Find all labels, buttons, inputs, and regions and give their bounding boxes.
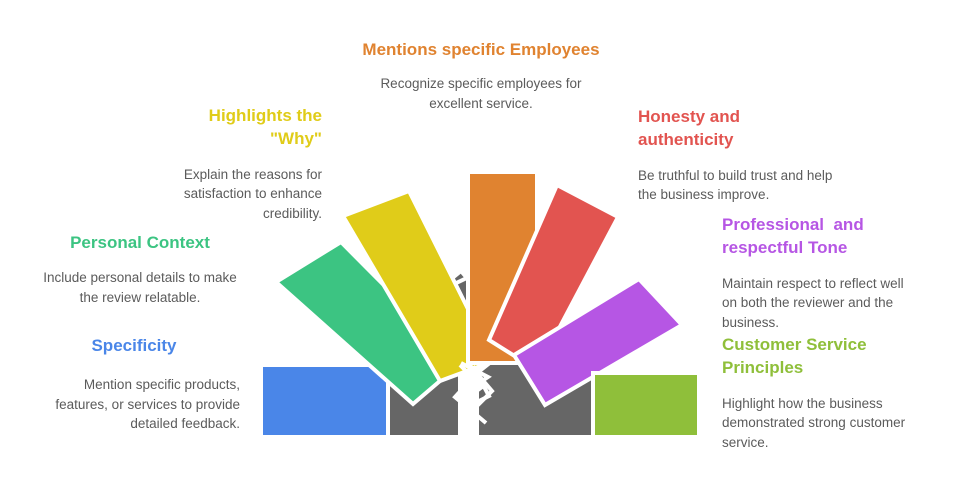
item-personal-context: Personal Context Include personal detail… — [42, 231, 238, 307]
item-description-mentions-specific-employees: Recognize specific employees for excelle… — [358, 74, 604, 113]
item-title-personal-context: Personal Context — [42, 231, 238, 254]
item-title-customer-service-principles: Customer Service Principles — [722, 333, 926, 380]
item-honesty-and-authenticity: Honesty and authenticity Be truthful to … — [638, 105, 834, 205]
item-description-professional-and-respectful-tone: Maintain respect to reflect well on both… — [722, 274, 922, 332]
item-title-specificity: Specificity — [28, 334, 240, 357]
item-description-customer-service-principles: Highlight how the business demonstrated … — [722, 394, 926, 452]
item-customer-service-principles: Customer Service Principles Highlight ho… — [722, 333, 926, 452]
blade-customer-service — [593, 373, 699, 437]
pinwheel-diagram — [255, 165, 705, 440]
infographic-canvas: Mentions specific Employees Recognize sp… — [0, 0, 960, 496]
item-title-professional-and-respectful-tone: Professional and respectful Tone — [722, 213, 922, 260]
item-specificity: Specificity Mention specific products, f… — [28, 334, 240, 433]
item-description-personal-context: Include personal details to make the rev… — [42, 268, 238, 307]
item-description-specificity: Mention specific products, features, or … — [28, 375, 240, 433]
blade-specificity — [261, 365, 388, 437]
item-mentions-specific-employees: Mentions specific Employees Recognize sp… — [358, 38, 604, 113]
item-description-highlights-the-why: Explain the reasons for satisfaction to … — [138, 165, 322, 223]
item-professional-and-respectful-tone: Professional and respectful Tone Maintai… — [722, 213, 922, 332]
item-description-honesty-and-authenticity: Be truthful to build trust and help the … — [638, 166, 834, 205]
item-title-mentions-specific-employees: Mentions specific Employees — [358, 38, 604, 61]
item-title-highlights-the-why: Highlights the "Why" — [138, 104, 322, 151]
item-highlights-the-why: Highlights the "Why" Explain the reasons… — [138, 104, 322, 223]
item-title-honesty-and-authenticity: Honesty and authenticity — [638, 105, 834, 152]
